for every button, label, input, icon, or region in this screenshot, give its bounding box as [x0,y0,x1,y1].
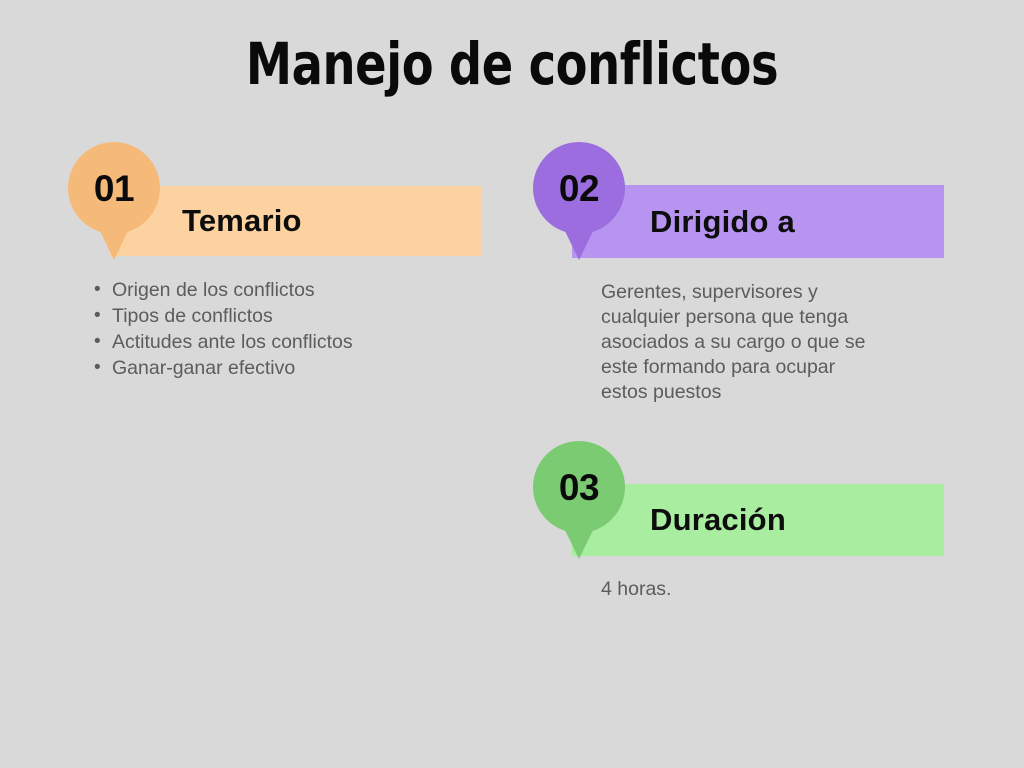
list-item: Origen de los conflictos [112,278,476,303]
card-content-duracion: 4 horas. [601,577,931,602]
paragraph-line: cualquier persona que tenga [601,305,931,330]
bullet-list: Origen de los conflictos Tipos de confli… [86,278,476,381]
card-number-03: 03 [533,441,625,533]
page-title: Manejo de conflictos [102,32,921,96]
card-content-dirigido-a: Gerentes, supervisores y cualquier perso… [601,280,931,405]
duration-value: 4 horas. [601,577,931,602]
card-heading-duracion: Duración [650,503,786,537]
slide-canvas: Manejo de conflictos Temario 01 Origen d… [0,0,1024,768]
card-content-temario: Origen de los conflictos Tipos de confli… [86,278,476,382]
card-bar-temario: Temario [110,186,482,256]
list-item: Actitudes ante los conflictos [112,330,476,355]
paragraph-line: asociados a su cargo o que se [601,330,931,355]
map-pin-icon-02: 02 [533,142,625,234]
paragraph-line: Gerentes, supervisores y [601,280,931,305]
paragraph-line: este formando para ocupar [601,355,931,380]
card-bar-duracion: Duración [572,484,944,556]
map-pin-icon-01: 01 [68,142,160,234]
card-number-01: 01 [68,142,160,234]
list-item: Tipos de conflictos [112,304,476,329]
paragraph-line: estos puestos [601,380,931,405]
card-number-02: 02 [533,142,625,234]
card-bar-dirigido-a: Dirigido a [572,185,944,258]
card-heading-dirigido-a: Dirigido a [650,205,795,239]
list-item: Ganar-ganar efectivo [112,356,476,381]
map-pin-icon-03: 03 [533,441,625,533]
card-heading-temario: Temario [182,204,302,238]
